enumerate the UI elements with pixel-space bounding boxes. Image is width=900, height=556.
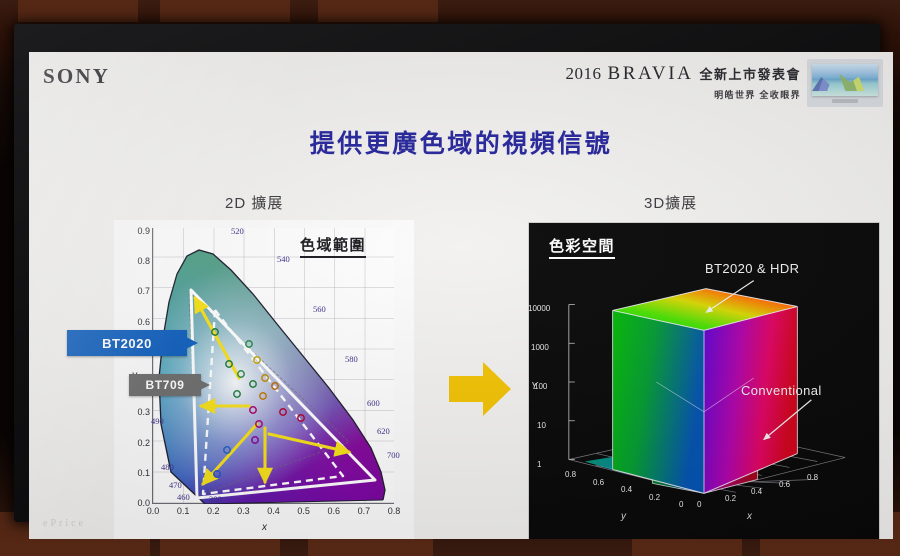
cie-ytick: 0.3	[137, 407, 150, 417]
wavelength-label: 380	[209, 494, 222, 504]
cube-x-axis-title: x	[747, 511, 752, 522]
cube-z-tick: 1000	[531, 343, 549, 352]
cie-xtick: 0.1	[177, 506, 190, 516]
bravia-brand-text: 2016 BRAVIA 全新上市發表會 明皓世界 全收眼界	[565, 59, 807, 101]
brand-subtitle: 明皓世界 全收眼界	[565, 88, 801, 101]
wavelength-label: 470	[169, 480, 182, 490]
wavelength-label: 520	[231, 226, 244, 236]
cie-plot-area: 0.0 0.1 0.2 0.3 0.4 0.5 0.6 0.7 0.8 0.9 …	[152, 228, 394, 504]
wavelength-label: 560	[313, 304, 326, 314]
tv-landscape-thumbnail-icon	[807, 59, 883, 107]
tv-screen: SONY 2016 BRAVIA 全新上市發表會 明皓世界 全收眼界	[29, 52, 893, 539]
bravia-brand-block: 2016 BRAVIA 全新上市發表會 明皓世界 全收眼界	[565, 59, 883, 107]
cube-y-tick: 0.2	[649, 493, 660, 502]
cie-ytick: 0.8	[137, 256, 150, 266]
wavelength-label: 620	[377, 426, 390, 436]
color-volume-3d-chart: 色彩空間	[528, 222, 880, 539]
caption-3d-expansion: 3D擴展	[644, 192, 697, 213]
cube-z-tick: 10	[537, 421, 546, 430]
page-title: 提供更廣色域的視頻信號	[29, 124, 893, 160]
wavelength-label: 490	[151, 416, 164, 426]
cie-xtick: 0.0	[147, 506, 160, 516]
annotation-bt2020-hdr: BT2020 & HDR	[705, 261, 799, 276]
cube-z-tick: 10000	[528, 304, 550, 313]
cube-z-axis-title: Y	[531, 381, 538, 392]
cie-gamut-graphic	[153, 228, 395, 504]
sony-logo: SONY	[43, 64, 110, 89]
brand-name: BRAVIA	[607, 63, 693, 85]
callout-bt709[interactable]: BT709	[129, 374, 201, 396]
wall-panel	[318, 0, 438, 22]
cie-ytick: 0.7	[137, 286, 150, 296]
watermark: ePrice	[43, 518, 86, 529]
color-volume-graphic	[529, 223, 879, 539]
cube-y-tick: 0	[679, 500, 683, 509]
annotation-conventional: Conventional	[741, 383, 822, 398]
cube-y-tick: 0.6	[593, 478, 604, 487]
wavelength-label: 540	[277, 254, 290, 264]
thumbnail-stand	[832, 99, 858, 103]
cie-xtick: 0.8	[388, 506, 401, 516]
bravia-brand-line: 2016 BRAVIA 全新上市發表會	[565, 63, 801, 85]
wavelength-label: 480	[161, 462, 174, 472]
cube-x-tick: 0.8	[807, 473, 818, 482]
cube-x-tick: 0	[697, 500, 701, 509]
cie-xtick: 0.5	[297, 506, 310, 516]
cube-y-axis-title: y	[621, 511, 626, 522]
cie-ytick: 0.2	[137, 438, 150, 448]
cie-xtick: 0.2	[207, 506, 220, 516]
cie-x-axis-title: x	[262, 522, 267, 533]
caption-2d-expansion: 2D 擴展	[225, 192, 283, 213]
cube-x-tick: 0.6	[779, 480, 790, 489]
cie-ytick: 0.1	[137, 468, 150, 478]
right-arrow-icon	[447, 358, 513, 420]
cie-xtick: 0.3	[237, 506, 250, 516]
cube-z-tick: 1	[537, 460, 541, 469]
wall-panel	[18, 0, 138, 22]
wavelength-label: 700	[387, 450, 400, 460]
wall-panel	[160, 0, 290, 22]
cie-xtick: 0.4	[267, 506, 280, 516]
tv-bezel: SONY 2016 BRAVIA 全新上市發表會 明皓世界 全收眼界	[14, 24, 880, 522]
wavelength-label: 580	[345, 354, 358, 364]
cube-x-tick: 0.2	[725, 494, 736, 503]
cie-xtick: 0.6	[327, 506, 340, 516]
cube-x-tick: 0.4	[751, 487, 762, 496]
presentation-slide: SONY 2016 BRAVIA 全新上市發表會 明皓世界 全收眼界	[29, 52, 893, 539]
wavelength-label: 600	[367, 398, 380, 408]
cube-y-tick: 0.4	[621, 485, 632, 494]
brand-year: 2016	[565, 64, 601, 84]
gamut-range-label: 色域範圍	[300, 234, 366, 258]
cie-ytick: 0.9	[137, 226, 150, 236]
brand-chinese: 全新上市發表會	[699, 64, 801, 83]
cie-xtick: 0.7	[358, 506, 371, 516]
callout-bt2020[interactable]: BT2020	[67, 330, 187, 356]
cie-ytick: 0.6	[137, 317, 150, 327]
wavelength-label: 460	[177, 492, 190, 502]
cube-y-tick: 0.8	[565, 470, 576, 479]
